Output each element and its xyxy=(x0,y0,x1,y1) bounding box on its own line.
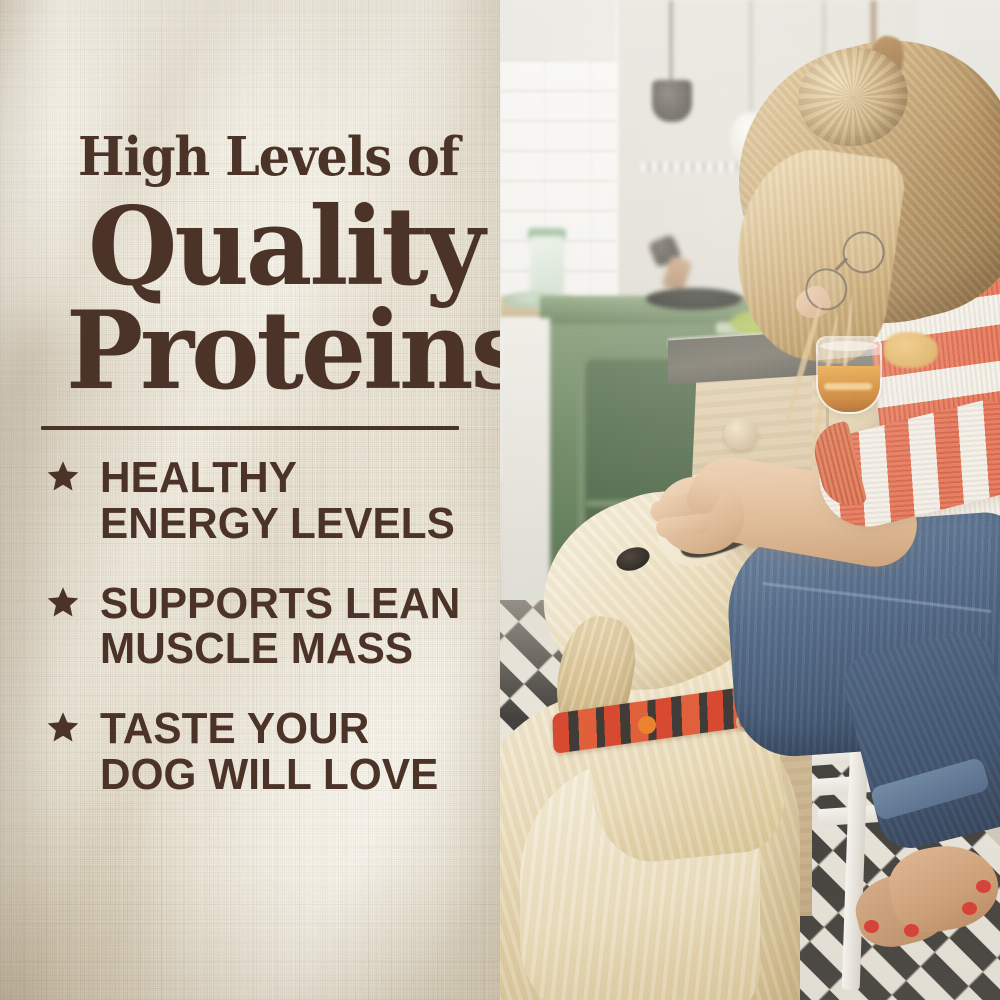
headline-line-3: Proteins xyxy=(66,300,500,403)
benefits-list: HEALTHY ENERGY LEVELS SUPPORTS LEAN MUSC… xyxy=(0,455,500,832)
toenail xyxy=(864,920,879,933)
lifestyle-photo xyxy=(500,0,1000,1000)
star-icon xyxy=(46,710,80,744)
benefit-item: HEALTHY ENERGY LEVELS xyxy=(0,455,500,547)
glass-rim xyxy=(820,341,878,351)
dark-pan xyxy=(646,288,742,310)
hanging-strainer-icon xyxy=(650,0,692,120)
benefit-item: TASTE YOUR DOG WILL LOVE xyxy=(0,706,500,798)
benefits-panel: High Levels of Quality Proteins HEALTHY … xyxy=(0,0,500,1000)
lifestyle-photo-panel xyxy=(500,0,1000,1000)
toenail xyxy=(976,880,991,893)
tea-highlight xyxy=(824,383,872,390)
headline-line-2: Quality xyxy=(88,196,482,299)
bread-slice xyxy=(884,332,938,368)
product-feature-card: High Levels of Quality Proteins HEALTHY … xyxy=(0,0,1000,1000)
toenail xyxy=(904,924,919,937)
benefit-label: SUPPORTS LEAN MUSCLE MASS xyxy=(100,581,484,673)
headline-line-1: High Levels of xyxy=(78,132,459,182)
table-knob xyxy=(724,418,758,450)
star-icon xyxy=(46,585,80,619)
headline-divider-rule xyxy=(41,426,459,430)
benefit-label: HEALTHY ENERGY LEVELS xyxy=(100,455,484,547)
benefit-label: TASTE YOUR DOG WILL LOVE xyxy=(100,706,484,798)
toenail xyxy=(962,902,977,915)
glass-of-iced-tea xyxy=(816,336,882,414)
benefits-content: High Levels of Quality Proteins HEALTHY … xyxy=(0,0,500,1000)
benefit-item: SUPPORTS LEAN MUSCLE MASS xyxy=(0,581,500,673)
star-icon xyxy=(46,459,80,493)
